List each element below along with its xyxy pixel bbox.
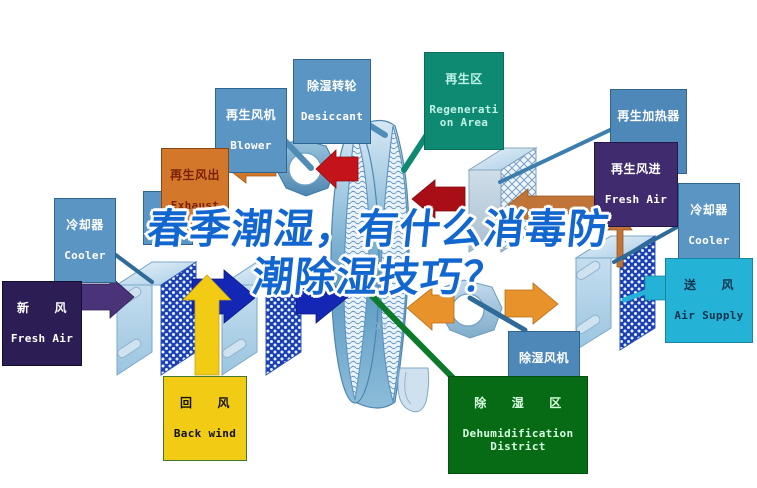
label-regeneration-fresh-air-in-en: Fresh Air xyxy=(599,194,673,206)
label-regeneration-heater-cn: 再生加热器 xyxy=(615,110,682,123)
label-regeneration-fresh-air-in[interactable]: 再生风进 Fresh Air xyxy=(594,142,678,227)
label-dehumidification-district-cn: 除 湿 区 xyxy=(453,397,583,410)
label-desiccant-wheel-en: Desiccant xyxy=(298,111,366,123)
label-cooler-left[interactable]: 冷却器 Cooler xyxy=(54,198,116,283)
label-air-supply-cn: 送 风 xyxy=(670,279,748,292)
label-dehumidification-district-en: Dehumidification District xyxy=(453,428,583,453)
label-back-wind-en: Back wind xyxy=(168,428,242,440)
label-air-supply[interactable]: 送 风 Air Supply xyxy=(665,258,753,343)
label-regeneration-blower-cn: 再生风机 xyxy=(220,109,282,122)
diagram-canvas: XY xyxy=(0,0,757,488)
label-regeneration-exhaust-en: Exhaust xyxy=(166,200,224,212)
condensate-tray xyxy=(398,368,429,412)
label-regeneration-fresh-air-in-cn: 再生风进 xyxy=(599,163,673,176)
label-desiccant-wheel[interactable]: 除湿转轮 Desiccant xyxy=(293,59,371,144)
label-fresh-air-in-cn: 新 风 xyxy=(7,302,77,315)
label-regeneration-exhaust-cn: 再生风出 xyxy=(166,169,224,182)
label-fresh-air-in[interactable]: 新 风 Fresh Air xyxy=(2,281,82,366)
label-regeneration-exhaust[interactable]: 再生风出 Exhaust xyxy=(161,148,229,233)
label-air-supply-en: Air Supply xyxy=(670,310,748,322)
label-desiccant-wheel-cn: 除湿转轮 xyxy=(298,80,366,93)
label-dehumidification-district[interactable]: 除 湿 区 Dehumidification District xyxy=(448,376,588,474)
label-fresh-air-in-en: Fresh Air xyxy=(7,333,77,345)
regen-hot-air-arrow-b xyxy=(412,180,465,218)
label-cooler-right-en: Cooler xyxy=(683,235,735,247)
label-regeneration-blower-en: Blower xyxy=(220,140,282,152)
label-dehumidification-blower-cn: 除湿风机 xyxy=(513,352,575,365)
cooler-coil-left xyxy=(116,262,196,375)
label-cooler-right[interactable]: 冷却器 Cooler xyxy=(678,183,740,268)
label-back-wind-cn: 回 风 xyxy=(168,397,242,410)
label-regeneration-area[interactable]: 再生区 Regenerati on Area xyxy=(424,52,504,150)
svg-text:XY: XY xyxy=(375,320,389,333)
label-cooler-left-en: Cooler xyxy=(59,250,111,262)
dry-air-arrow-2 xyxy=(505,283,558,324)
label-regeneration-area-en: Regenerati on Area xyxy=(429,104,499,129)
label-cooler-left-cn: 冷却器 xyxy=(59,219,111,232)
label-cooler-right-cn: 冷却器 xyxy=(683,204,735,217)
label-back-wind[interactable]: 回 风 Back wind xyxy=(163,376,247,461)
label-regeneration-area-cn: 再生区 xyxy=(429,73,499,86)
